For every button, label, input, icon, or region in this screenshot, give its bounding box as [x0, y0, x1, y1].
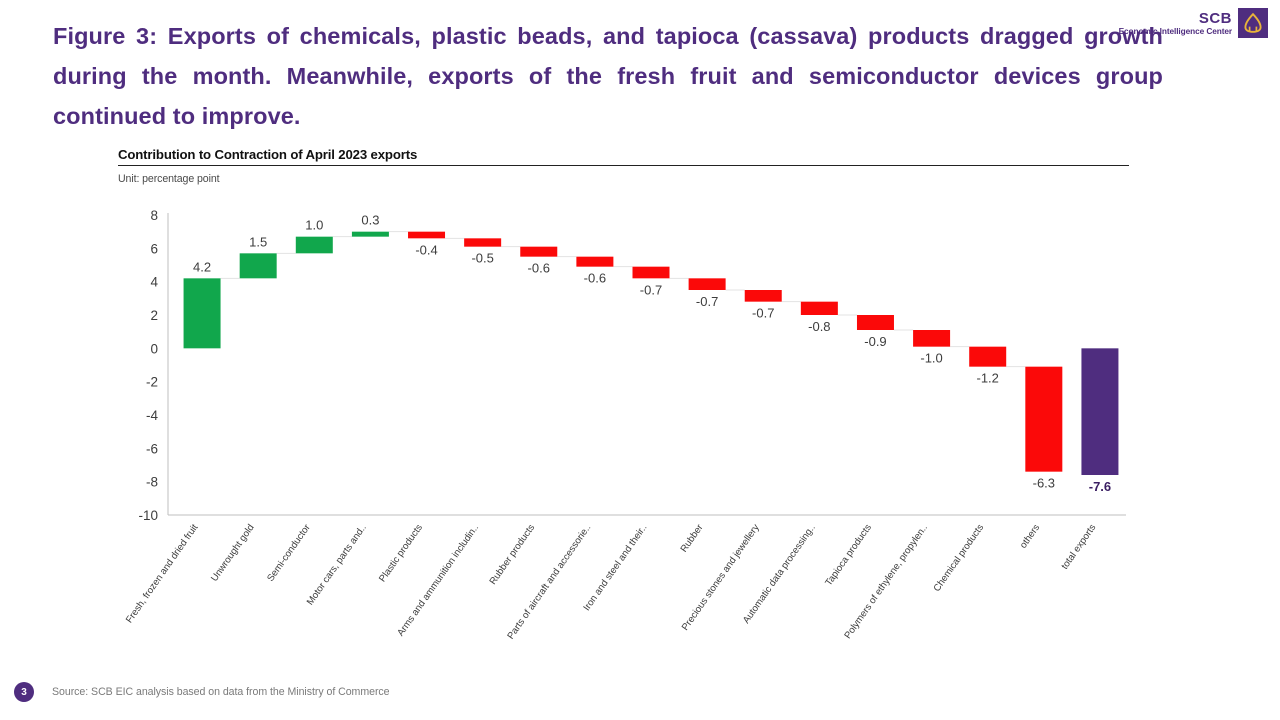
waterfall-bar[interactable]	[689, 278, 726, 290]
x-axis-tick-label: Rubber	[679, 522, 707, 555]
bar-value-label: -0.7	[640, 282, 662, 297]
x-axis-tick-label: Iron and steel and their..	[581, 522, 649, 613]
y-axis-tick-label: -8	[146, 475, 158, 490]
logo-brand-text: SCB	[1119, 10, 1232, 27]
connector-lines-group	[221, 232, 1026, 367]
total-bar[interactable]	[1081, 348, 1118, 475]
waterfall-bar[interactable]	[745, 290, 782, 302]
x-axis-tick-label: total exports	[1059, 522, 1098, 571]
x-axis-tick-label: Unwrought gold	[209, 522, 257, 583]
waterfall-bar[interactable]	[240, 253, 277, 278]
chart-card: Contribution to Contraction of April 202…	[118, 147, 1130, 667]
source-note: Source: SCB EIC analysis based on data f…	[52, 686, 390, 698]
waterfall-bar[interactable]	[352, 232, 389, 237]
y-axis-tick-label: 6	[150, 241, 158, 256]
scb-mark-icon	[1238, 8, 1268, 38]
y-axis-tick-label: -4	[146, 408, 158, 423]
waterfall-bar[interactable]	[184, 278, 221, 348]
waterfall-bar[interactable]	[633, 267, 670, 279]
x-axis-tick-label: Fresh, frozen and dried fruit	[124, 522, 201, 625]
chart-title: Contribution to Contraction of April 202…	[118, 147, 1130, 165]
footer: 3 Source: SCB EIC analysis based on data…	[14, 682, 390, 702]
chart-title-divider	[118, 165, 1129, 166]
page-number-badge: 3	[14, 682, 34, 702]
waterfall-bar[interactable]	[520, 247, 557, 257]
bar-value-label: 4.2	[193, 259, 211, 274]
bar-value-label: -0.4	[415, 242, 437, 257]
y-axis-tick-label: 4	[150, 275, 158, 290]
waterfall-bar[interactable]	[296, 237, 333, 254]
waterfall-bar[interactable]	[913, 330, 950, 347]
y-axis-tick-label: -10	[138, 508, 158, 523]
bar-value-label: 1.5	[249, 234, 267, 249]
bars-group	[184, 232, 1119, 475]
waterfall-bar[interactable]	[969, 347, 1006, 367]
bar-value-label: -0.8	[808, 319, 830, 334]
x-axis-tick-label: Chemical products	[932, 522, 987, 594]
y-axis-tick-group: 86420-2-4-6-8-10	[138, 208, 158, 523]
bar-value-label: -1.0	[920, 351, 942, 366]
x-axis-tick-group: Fresh, frozen and dried fruitUnwrought g…	[124, 522, 1099, 642]
scb-eic-logo: SCB Economic Intelligence Center	[1119, 8, 1268, 38]
bar-value-label: -1.2	[977, 371, 999, 386]
page-title: Figure 3: Exports of chemicals, plastic …	[53, 16, 1163, 136]
x-axis-tick-label: Rubber products	[488, 522, 538, 587]
waterfall-bar[interactable]	[857, 315, 894, 330]
x-axis-tick-label: Motor cars, parts and..	[305, 522, 369, 607]
bar-value-label: -7.6	[1089, 479, 1111, 494]
bar-value-label: -6.3	[1033, 476, 1055, 491]
bar-value-label: -0.5	[471, 251, 493, 266]
x-axis-tick-label: Tapioca products	[823, 522, 874, 588]
waterfall-bar[interactable]	[1025, 367, 1062, 472]
bar-value-label: 0.3	[361, 213, 379, 228]
waterfall-chart-plot: 86420-2-4-6-8-10 4.21.51.00.3-0.4-0.5-0.…	[118, 205, 1130, 665]
waterfall-bar[interactable]	[408, 232, 445, 239]
waterfall-bar[interactable]	[576, 257, 613, 267]
bar-value-label: -0.6	[528, 261, 550, 276]
chart-unit-label: Unit: percentage point	[118, 173, 1130, 185]
logo-subtitle-text: Economic Intelligence Center	[1119, 27, 1232, 37]
y-axis-tick-label: 8	[150, 208, 158, 223]
waterfall-bar[interactable]	[464, 238, 501, 246]
chart-svg: 86420-2-4-6-8-10 4.21.51.00.3-0.4-0.5-0.…	[118, 205, 1130, 665]
y-axis-tick-label: -2	[146, 375, 158, 390]
y-axis-tick-label: 2	[150, 308, 158, 323]
bar-value-label: 1.0	[305, 218, 323, 233]
x-axis-tick-label: Plastic products	[377, 522, 425, 584]
bar-value-label: -0.6	[584, 271, 606, 286]
y-axis-tick-label: -6	[146, 441, 158, 456]
x-axis-tick-label: others	[1018, 522, 1042, 550]
x-axis-tick-label: Semi-conductor	[265, 522, 313, 584]
bar-value-label: -0.9	[864, 334, 886, 349]
waterfall-bar[interactable]	[801, 302, 838, 315]
bar-value-label: -0.7	[696, 294, 718, 309]
logo-text-block: SCB Economic Intelligence Center	[1119, 10, 1232, 37]
bar-value-label: -0.7	[752, 306, 774, 321]
y-axis-tick-label: 0	[150, 341, 158, 356]
